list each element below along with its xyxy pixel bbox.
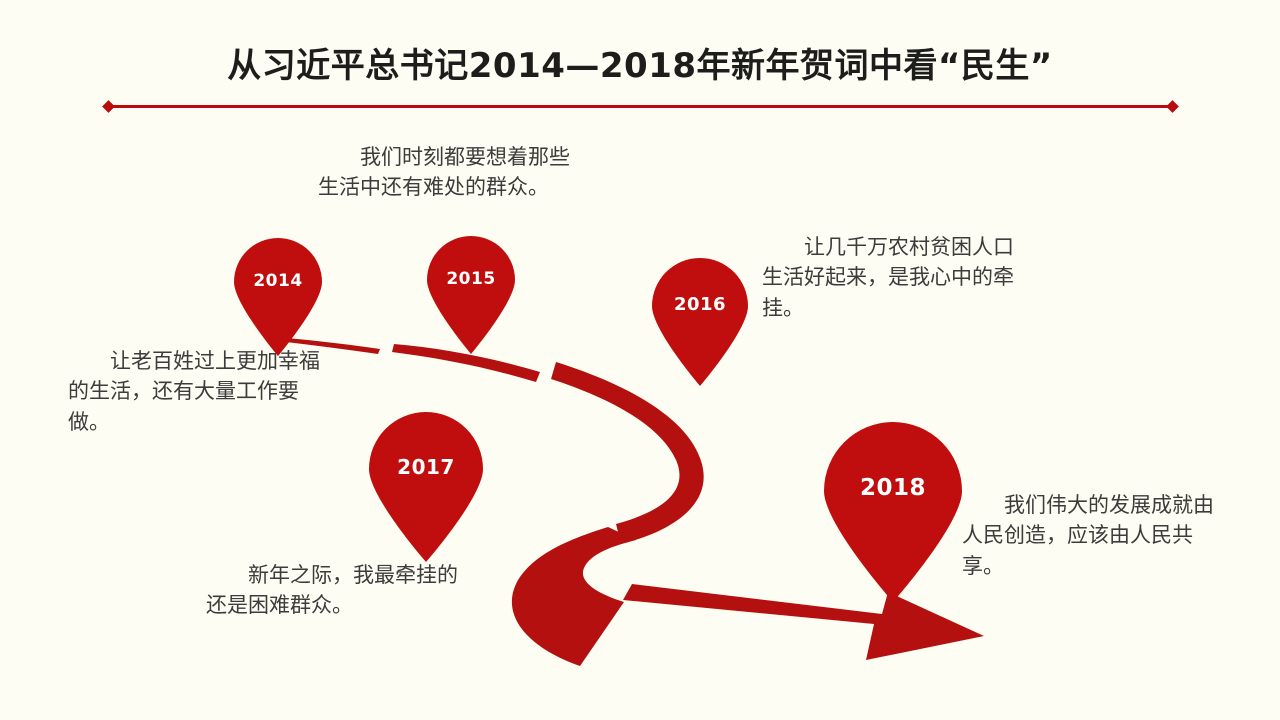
- road-segment-4: [512, 527, 636, 666]
- pin-year-label: 2016: [650, 294, 750, 315]
- timeline-quote-2018: 我们伟大的发展成就由人民创造，应该由人民共享。: [962, 490, 1224, 581]
- title-block: 从习近平总书记2014—2018年新年贺词中看“民生”: [0, 38, 1280, 87]
- timeline-pin-2015[interactable]: 2015: [425, 236, 517, 354]
- pin-year-label: 2014: [232, 271, 324, 291]
- map-pin-icon: [232, 238, 324, 356]
- timeline-pin-2018[interactable]: 2018: [822, 422, 964, 602]
- timeline-quote-2017: 新年之际，我最牵挂的还是困难群众。: [206, 560, 474, 621]
- slide-canvas: 从习近平总书记2014—2018年新年贺词中看“民生” 2014 2015: [0, 0, 1280, 720]
- divider-line: [110, 105, 1171, 108]
- timeline-pin-2017[interactable]: 2017: [367, 412, 485, 562]
- map-pin-icon: [425, 236, 517, 354]
- road-segment-3: [551, 362, 704, 544]
- timeline-quote-2015: 我们时刻都要想着那些生活中还有难处的群众。: [318, 142, 582, 203]
- map-pin-icon: [822, 422, 964, 602]
- map-pin-icon: [650, 258, 750, 386]
- pin-year-label: 2018: [822, 475, 964, 501]
- timeline-quote-2014: 让老百姓过上更加幸福的生活，还有大量工作要做。: [68, 346, 336, 437]
- timeline-pin-2016[interactable]: 2016: [650, 258, 750, 386]
- timeline-quote-2016: 让几千万农村贫困人口生活好起来，是我心中的牵挂。: [762, 232, 1030, 323]
- map-pin-icon: [367, 412, 485, 562]
- divider-diamond-right-icon: [1166, 100, 1179, 113]
- timeline-pin-2014[interactable]: 2014: [232, 238, 324, 356]
- pin-year-label: 2017: [367, 455, 485, 479]
- pin-year-label: 2015: [425, 269, 517, 289]
- divider: [104, 100, 1177, 114]
- page-title: 从习近平总书记2014—2018年新年贺词中看“民生”: [227, 38, 1052, 87]
